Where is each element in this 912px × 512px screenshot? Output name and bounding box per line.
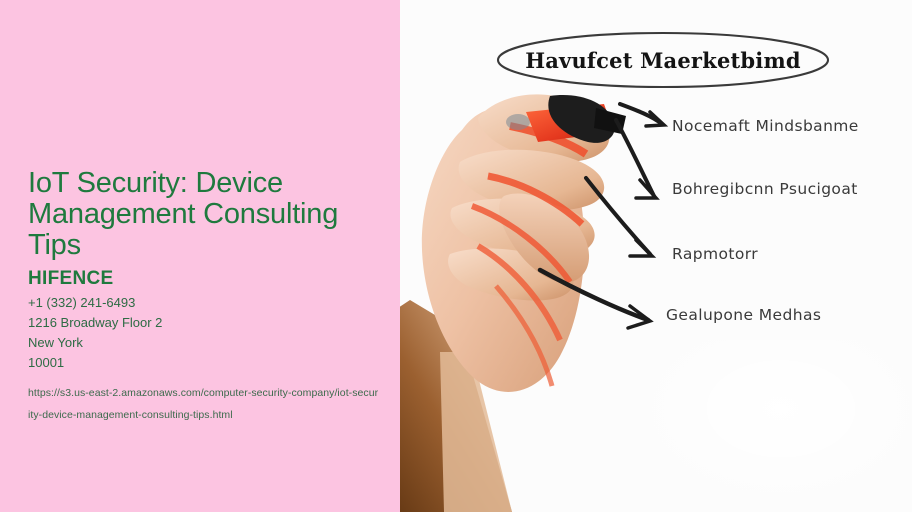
info-panel-content: IoT Security: Device Management Consulti…	[28, 168, 384, 426]
bubble-label: Havufcet Maerketbimd	[525, 48, 801, 73]
phone-number: +1 (332) 241-6493	[28, 293, 384, 313]
diagram-label-1: Nocemaft Mindsbanme	[672, 117, 859, 135]
street-address: 1216 Broadway Floor 2	[28, 313, 384, 333]
source-url-link[interactable]: https://s3.us-east-2.amazonaws.com/compu…	[28, 382, 380, 426]
city: New York	[28, 333, 384, 353]
diagram-label-4: Gealupone Medhas	[666, 306, 821, 324]
diagram-label-2: Bohregibcnn Psucigoat	[672, 180, 858, 198]
whiteboard-illustration: Havufcet Maerketbimd	[400, 0, 912, 512]
illustration-panel: Havufcet Maerketbimd	[400, 0, 912, 512]
info-panel: IoT Security: Device Management Consulti…	[0, 0, 400, 512]
lighting-vignette	[650, 340, 912, 512]
slide-canvas: IoT Security: Device Management Consulti…	[0, 0, 912, 512]
page-title: IoT Security: Device Management Consulti…	[28, 168, 388, 261]
diagram-label-3: Rapmotorr	[672, 245, 758, 263]
postal-code: 10001	[28, 353, 384, 373]
marker-reflection	[506, 114, 530, 130]
company-name: HIFENCE	[28, 267, 384, 291]
